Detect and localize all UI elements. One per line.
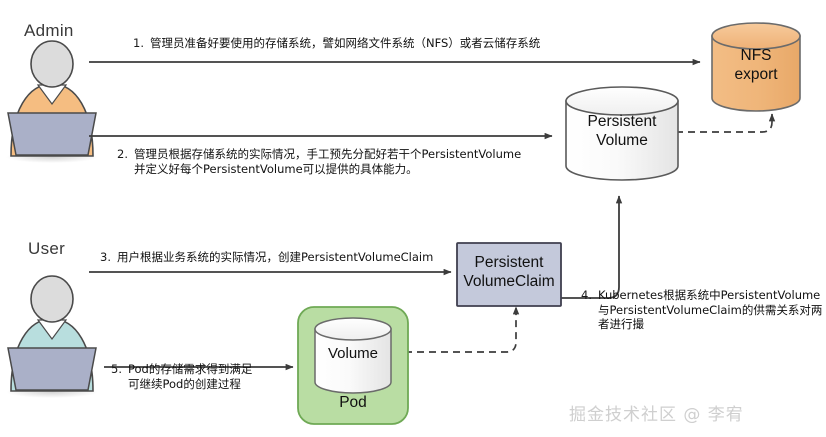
- step-5-number: 5.: [111, 362, 122, 377]
- step-4-number: 4.: [581, 288, 592, 303]
- user-label: User: [28, 238, 65, 260]
- node-persistent-volume[interactable]: [566, 87, 678, 180]
- user-head: [31, 276, 73, 322]
- admin-label: Admin: [24, 20, 74, 42]
- admin-head: [31, 41, 73, 87]
- admin-figure: [6, 41, 98, 163]
- node-volume[interactable]: [315, 318, 391, 393]
- nfs-cylinder-top: [712, 23, 800, 49]
- admin-laptop: [8, 113, 96, 155]
- step-1-text: 管理员准备好要使用的存储系统，譬如网络文件系统（NFS）或者云储存系统: [150, 36, 540, 51]
- step-5-text: Pod的存储需求得到满足 可继续Pod的创建过程: [128, 362, 252, 391]
- node-pod[interactable]: [298, 307, 408, 424]
- pv-cylinder-top: [566, 87, 678, 115]
- watermark: 掘金技术社区 @ 李宥: [569, 400, 744, 425]
- connector-pv-to-nfs-dashed: [676, 114, 772, 132]
- pvc-box: [457, 243, 561, 306]
- node-persistent-volume-claim[interactable]: [457, 243, 561, 306]
- diagram-canvas: Admin User 1. 管理员准备好要使用的存储系统，譬如网络文件系统（NF…: [0, 0, 826, 437]
- step-3-number: 3.: [100, 250, 111, 265]
- connector-pvc-to-pv: [560, 196, 619, 298]
- volume-cylinder-top: [315, 318, 391, 340]
- user-laptop: [8, 348, 96, 390]
- step-1-number: 1.: [133, 36, 144, 51]
- diagram-graphics: [0, 0, 826, 437]
- node-nfs-export[interactable]: [712, 23, 800, 111]
- step-2-number: 2.: [117, 147, 128, 162]
- connector-pod-to-pvc-dashed: [393, 307, 516, 352]
- user-figure: [6, 276, 98, 398]
- step-2-text: 管理员根据存储系统的实际情况，手工预先分配好若干个PersistentVolum…: [134, 147, 521, 176]
- step-3-text: 用户根据业务系统的实际情况，创建PersistentVolumeClaim: [117, 250, 433, 265]
- step-4-text: Kubernetes根据系统中PersistentVolume 与Persist…: [598, 288, 822, 332]
